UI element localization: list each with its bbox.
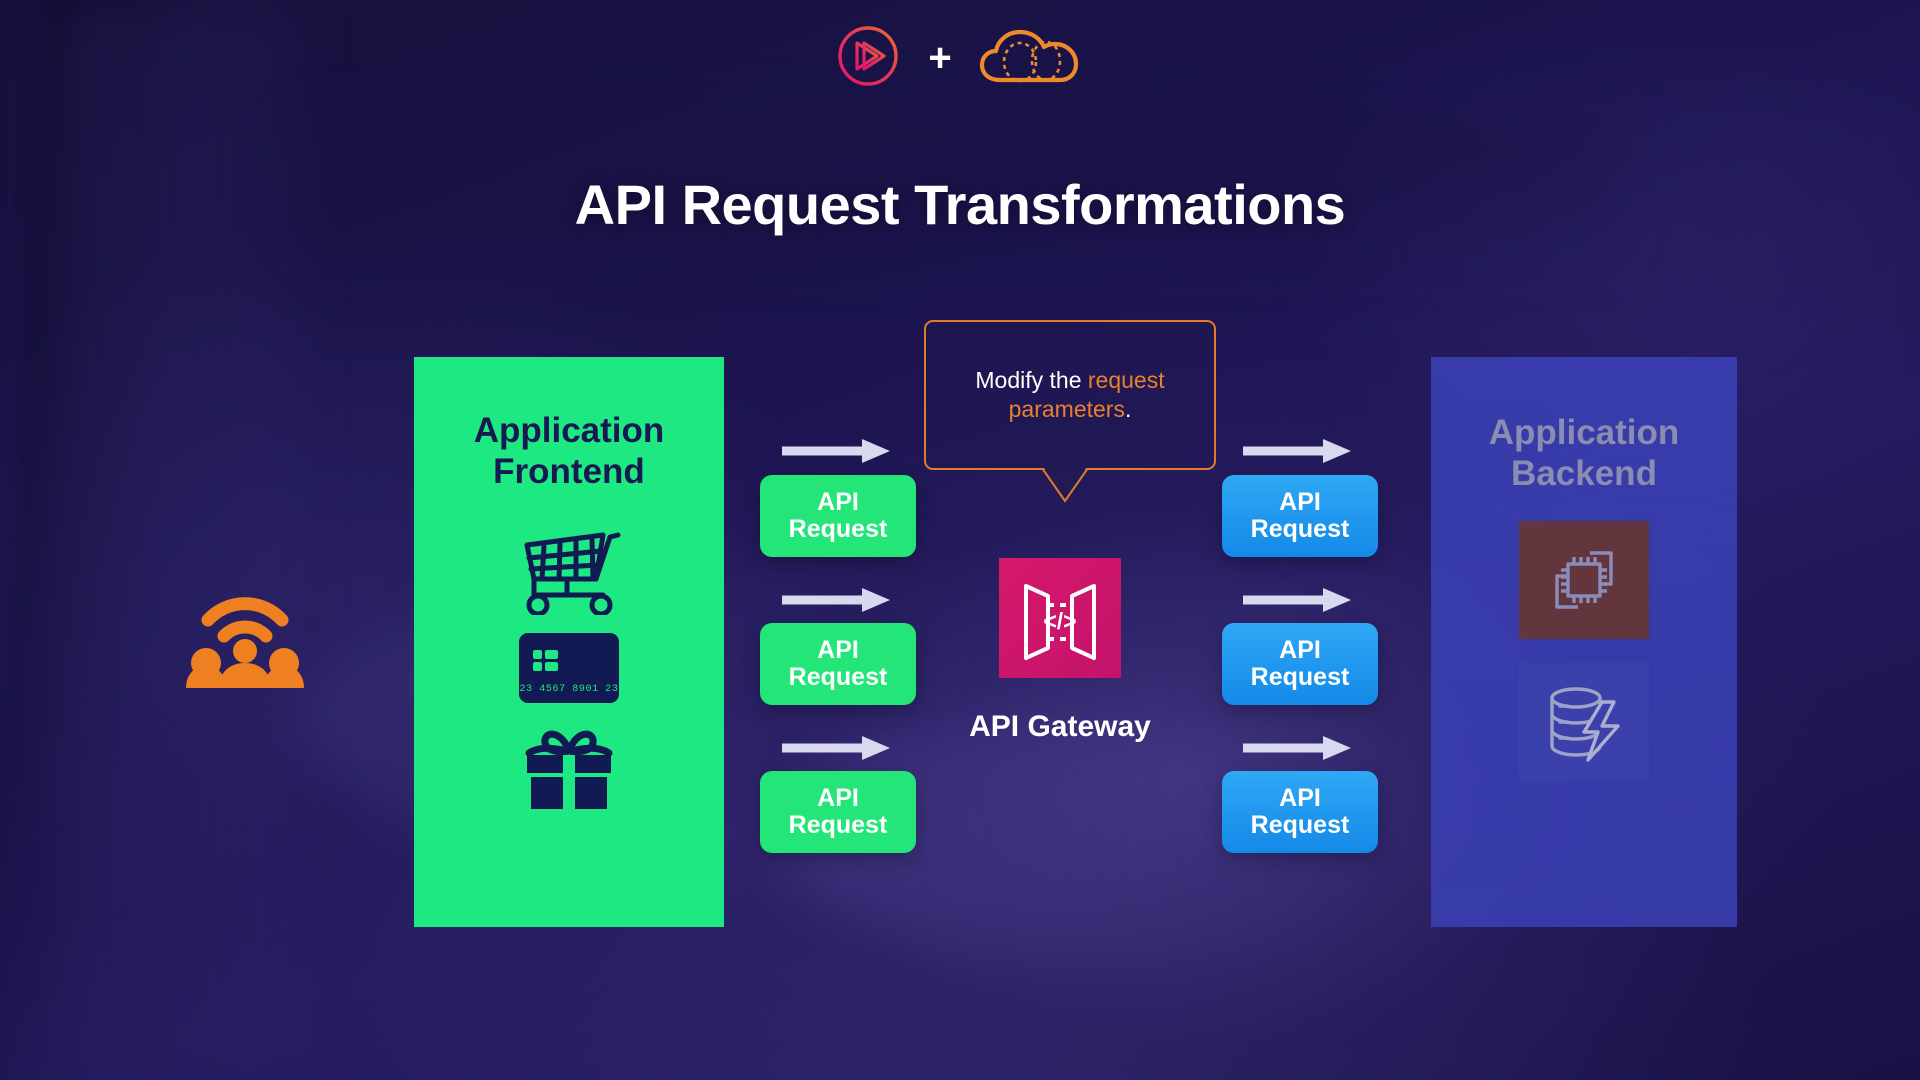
arrow-in-3	[782, 735, 892, 761]
arrow-out-2	[1243, 587, 1353, 613]
plus-separator-icon: +	[928, 38, 951, 78]
users-wifi-icon	[186, 570, 304, 688]
api-gateway-label: API Gateway	[890, 710, 1230, 744]
svg-text:</>: </>	[1043, 608, 1076, 634]
shopping-cart-icon	[517, 523, 621, 615]
postman-play-logo	[832, 20, 904, 92]
background-band-left	[60, 0, 300, 1080]
database-lightning-icon	[1540, 678, 1628, 766]
backend-title-line2: Backend	[1431, 454, 1737, 495]
frontend-panel-title: Application Frontend	[414, 411, 724, 493]
callout-suffix: .	[1125, 396, 1131, 422]
api-request-out-3[interactable]: API Request	[1222, 771, 1378, 853]
compute-chip-icon	[1541, 537, 1627, 623]
background-streak	[0, 0, 170, 1080]
slide-canvas: + API Request Transformations	[0, 0, 1920, 1080]
application-backend-panel[interactable]: Application Backend	[1431, 357, 1737, 927]
backend-title-line1: Application	[1431, 413, 1737, 454]
database-tile	[1519, 663, 1649, 781]
api-request-in-3[interactable]: API Request	[760, 771, 916, 853]
api-gateway-icon[interactable]: </>	[999, 558, 1121, 678]
api-request-in-1[interactable]: API Request	[760, 475, 916, 557]
backend-icon-list	[1431, 521, 1737, 781]
credit-card-icon: 0123 4567 8901 2345	[519, 633, 619, 703]
arrow-out-1	[1243, 438, 1353, 464]
callout-tail-icon	[1040, 468, 1090, 504]
header-logo-row: +	[0, 20, 1920, 92]
application-frontend-panel[interactable]: Application Frontend	[414, 357, 724, 927]
arrow-in-2	[782, 587, 892, 613]
frontend-title-line1: Application	[414, 411, 724, 452]
api-request-out-3-text: API Request	[1251, 785, 1350, 839]
frontend-title-line2: Frontend	[414, 452, 724, 493]
credit-card-number: 0123 4567 8901 2345	[519, 684, 619, 695]
api-request-out-2[interactable]: API Request	[1222, 623, 1378, 705]
compute-tile	[1519, 521, 1649, 639]
callout-prefix: Modify the	[975, 367, 1088, 393]
api-request-out-1[interactable]: API Request	[1222, 475, 1378, 557]
api-request-out-1-text: API Request	[1251, 489, 1350, 543]
api-request-out-2-text: API Request	[1251, 637, 1350, 691]
callout-modify-parameters[interactable]: Modify the request parameters.	[924, 320, 1216, 470]
arrow-out-3	[1243, 735, 1353, 761]
backend-panel-title: Application Backend	[1431, 413, 1737, 495]
api-request-in-2[interactable]: API Request	[760, 623, 916, 705]
api-request-in-3-text: API Request	[789, 785, 888, 839]
arrow-in-1	[782, 438, 892, 464]
gift-box-icon	[521, 721, 617, 809]
api-request-in-1-text: API Request	[789, 489, 888, 543]
page-title: API Request Transformations	[0, 172, 1920, 237]
frontend-icon-list: 0123 4567 8901 2345	[414, 523, 724, 809]
api-request-in-2-text: API Request	[789, 637, 888, 691]
callout-text: Modify the request parameters.	[926, 366, 1214, 424]
aws-cloud-logo	[976, 20, 1088, 92]
